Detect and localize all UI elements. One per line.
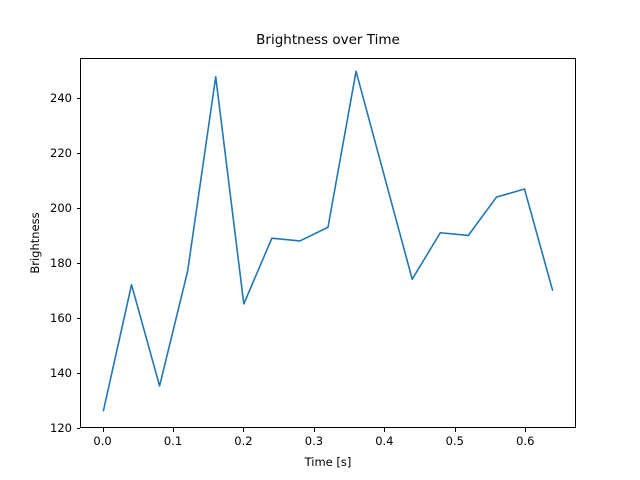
figure-canvas: Brightness over Time Brightness 12014016…: [0, 0, 640, 480]
y-tick-mark: [77, 208, 81, 209]
x-tick-mark: [314, 428, 315, 432]
x-tick-label: 0.4: [375, 434, 393, 448]
x-tick-mark: [103, 428, 104, 432]
x-tick-mark: [243, 428, 244, 432]
y-tick-mark: [77, 153, 81, 154]
y-tick-label: 180: [50, 256, 72, 270]
y-tick-mark: [77, 98, 81, 99]
x-tick-mark: [384, 428, 385, 432]
y-tick-label: 240: [50, 91, 72, 105]
y-tick-mark: [77, 428, 81, 429]
y-tick-mark: [77, 373, 81, 374]
line-series-svg: [81, 59, 575, 427]
x-tick-label: 0.0: [93, 434, 111, 448]
x-tick-mark: [525, 428, 526, 432]
y-tick-label: 140: [50, 366, 72, 380]
x-tick-label: 0.6: [516, 434, 534, 448]
y-tick-label: 160: [50, 311, 72, 325]
y-tick-mark: [77, 263, 81, 264]
brightness-line: [103, 71, 552, 410]
x-axis-label: Time [s]: [80, 455, 576, 469]
y-tick-label: 200: [50, 201, 72, 215]
y-tick-label: 220: [50, 146, 72, 160]
x-tick-label: 0.2: [234, 434, 252, 448]
x-tick-mark: [455, 428, 456, 432]
y-axis-tick-labels: 120140160180200220240: [34, 0, 72, 480]
chart-title: Brightness over Time: [80, 32, 576, 48]
y-tick-label: 120: [50, 421, 72, 435]
x-tick-label: 0.1: [164, 434, 182, 448]
x-tick-mark: [173, 428, 174, 432]
x-tick-label: 0.5: [446, 434, 464, 448]
y-tick-mark: [77, 318, 81, 319]
x-tick-label: 0.3: [305, 434, 323, 448]
plot-area: [80, 58, 576, 428]
